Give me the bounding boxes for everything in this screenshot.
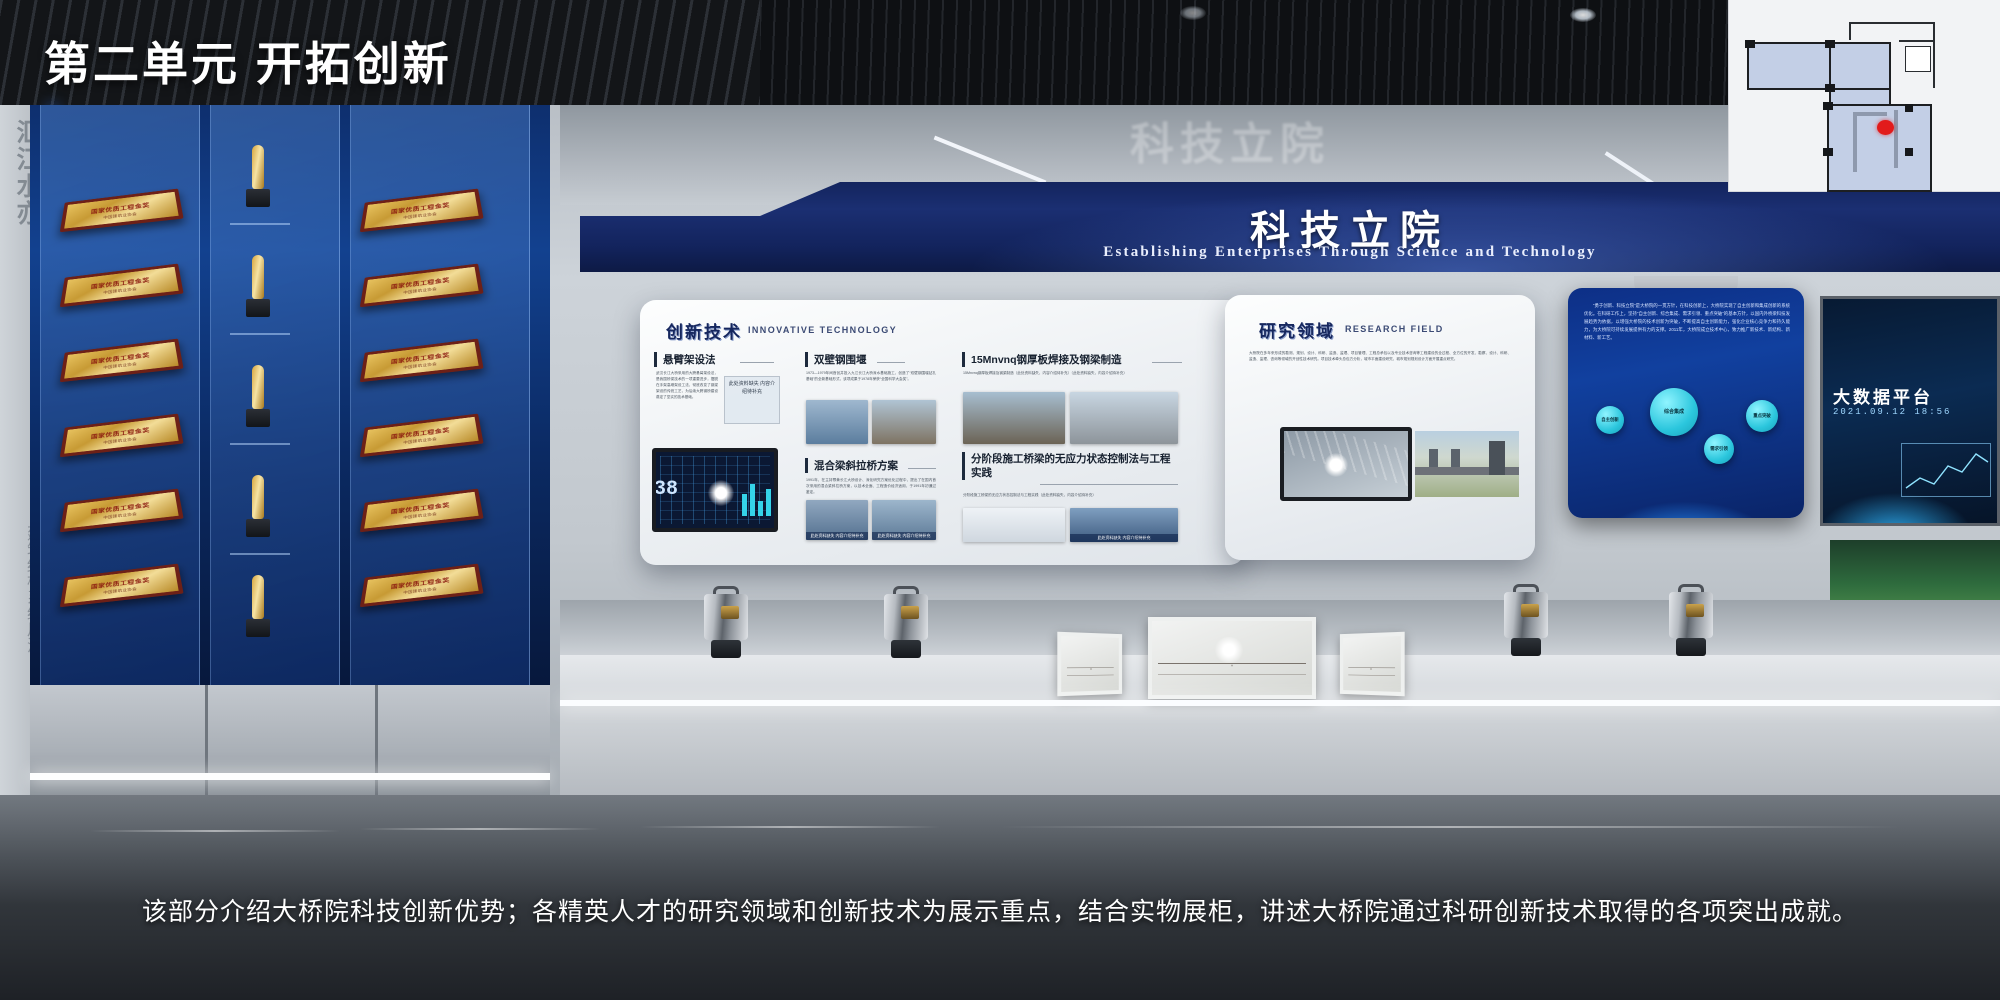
fp-inner-wall	[1853, 112, 1857, 172]
fp-room-west-b	[1829, 42, 1891, 90]
shelf	[230, 443, 290, 445]
fp-room-main	[1827, 104, 1932, 192]
section-title-stressfree: 分阶段施工桥梁的无应力状态控制法与工程实践	[962, 452, 1174, 480]
monitor-glare	[1324, 453, 1348, 477]
current-location-marker	[1877, 120, 1894, 135]
thumbnail-construction-1	[963, 392, 1065, 444]
section-title-steel-plate: 15Mnvnq钢厚板焊接及钢梁制造	[962, 352, 1122, 367]
fp-inner-wall	[1853, 112, 1887, 116]
fp-column	[1825, 40, 1835, 48]
fp-stairs	[1905, 46, 1931, 72]
thumbnail-bridge-1	[806, 400, 868, 444]
floor-highlight	[1000, 826, 1900, 828]
thumbnail-steel-truss	[1070, 392, 1178, 444]
bottom-caption: 该部分介绍大桥院科技创新优势；各精英人才的研究领域和创新技术为展示重点，结合实物…	[0, 880, 2000, 940]
trophy-figure	[245, 365, 271, 431]
fp-outline	[1849, 22, 1935, 24]
bigdata-screen: 大数据平台 2021.09.12 18:56	[1820, 296, 2000, 526]
thumb-caption: 此处资料缺失 内容介绍待补充	[806, 532, 868, 540]
section-body-hybrid-girder: 1991年，在主持鄂黄长江大桥设计、深化研究方案优化过程中，提出了在国内首次采用…	[806, 477, 936, 495]
thumb-caption: 此处资料缺失 内容介绍待补充	[872, 532, 936, 540]
panel-b-heading-cn: 研究领域	[1259, 317, 1335, 342]
bigdata-timestamp: 2021.09.12 18:56	[1833, 407, 1951, 417]
ceiling-light-icon	[1570, 8, 1596, 22]
laser-scanner-device	[700, 594, 752, 660]
node-demand-driven[interactable]: 需求引领	[1704, 434, 1734, 464]
fp-column	[1823, 148, 1833, 156]
floor-highlight	[360, 828, 600, 830]
panel-b-body: 大桥院在多年来形成的勘测、规划、设计、科研、监造、监理、项目管理、工程总承包以及…	[1249, 350, 1511, 362]
fp-inner-wall	[1894, 110, 1898, 168]
shelf	[230, 333, 290, 335]
pedestal-led-strip	[30, 773, 550, 780]
floor-highlight	[90, 830, 340, 832]
thumbnail-hybrid-2: 此处资料缺失 内容介绍待补充	[872, 500, 936, 540]
node-integration[interactable]: 综合集成	[1650, 388, 1698, 436]
exhibition-render: 科技立院 汇江水亦 建筑结构系统川活 国家优质工程金奖 中国建筑业协会 国家优质…	[0, 0, 2000, 1000]
laser-scanner-device	[1500, 592, 1552, 658]
section-body-stressfree: 分阶段施工桥梁的无应力状态控制法与工程实践（此处资料缺失，内容介绍待补充）	[963, 492, 1178, 498]
thumbnail-bridge-2	[872, 400, 936, 444]
award-display-case: 国家优质工程金奖 中国建筑业协会 国家优质工程金奖 中国建筑业协会 国家优质工程…	[30, 105, 550, 795]
section-title-hybrid-girder: 混合梁斜拉桥方案	[805, 458, 898, 473]
section-rule	[908, 468, 936, 469]
section-rule	[1040, 484, 1178, 485]
page-title: 第二单元 开拓创新	[44, 28, 452, 94]
floorplan-minimap[interactable]	[1728, 0, 2000, 192]
panel-innovative-technology: 创新技术 INNOVATIVE TECHNOLOGY 悬臂架设法 武汉长江大桥采…	[640, 300, 1245, 565]
thumbnail-hybrid-1: 此处资料缺失 内容介绍待补充	[806, 500, 868, 540]
node-self-innovation[interactable]: 自主创新	[1596, 406, 1624, 434]
embedded-monitor: 38	[652, 448, 778, 532]
counter-led-strip	[560, 700, 2000, 706]
line-chart-icon	[1902, 444, 1992, 498]
fp-column	[1823, 102, 1833, 110]
node-key-breakthrough[interactable]: 重点突破	[1746, 400, 1778, 432]
bridge-drawing-left	[1057, 632, 1122, 697]
fp-room-west	[1747, 42, 1837, 90]
shelf	[230, 223, 290, 225]
bigdata-chart	[1901, 443, 1991, 497]
fp-outline	[1849, 22, 1851, 40]
fp-column	[1825, 84, 1835, 92]
note-missing-1: 此处资料缺失 内容介绍待补充	[724, 376, 780, 424]
section-body-cantilever: 武汉长江大桥采用的大跨悬臂架设法，是我国桥梁技术的一项重要进步，摆脱在手架高墩架…	[656, 370, 718, 400]
fp-outline	[1933, 22, 1935, 88]
bridge-drawing-right	[1340, 632, 1405, 697]
totem-body-text: “勇于创新、科技立院”是大桥院的一贯方针，在科技创新上，大桥院实现了自主创新和集…	[1584, 302, 1790, 342]
thumb-caption: 此处资料缺失 内容介绍待补充	[1070, 534, 1178, 542]
trophy-figure	[245, 145, 271, 211]
fp-column	[1745, 40, 1755, 48]
bigdata-title: 大数据平台	[1833, 383, 1933, 408]
ghost-wall-text: 科技立院	[1060, 108, 1400, 168]
shelf	[230, 553, 290, 555]
ceiling-light-icon	[1180, 6, 1206, 20]
bridge-drawing-center	[1148, 617, 1316, 699]
section-rule	[877, 362, 905, 363]
panel-b-heading-en: RESEARCH FIELD	[1345, 324, 1444, 334]
floor-highlight	[640, 826, 940, 828]
laser-scanner-device	[880, 594, 932, 660]
fp-outline	[1899, 40, 1935, 42]
fp-column	[1905, 148, 1913, 156]
fp-column	[1905, 104, 1913, 112]
section-rule	[1152, 362, 1182, 363]
totem-innovation-panel: “勇于创新、科技立院”是大桥院的一贯方针，在科技创新上，大桥院实现了自主创新和集…	[1568, 288, 1804, 518]
section-body-steel-plate: 15Mnvnq钢厚板焊接及钢梁制造（此处资料缺失，内容介绍待补充）（此处资料缺失…	[963, 370, 1178, 376]
case-glass-mid	[210, 105, 340, 685]
section-rule	[740, 362, 774, 363]
trophy-figure	[245, 255, 271, 321]
section-title-cantilever: 悬臂架设法	[654, 352, 716, 367]
banner-title-en: Establishing Enterprises Through Science…	[580, 244, 2000, 261]
section-body-double-wall: 1973—1979年间首创并投入九江长江大桥深水基础施工，创造了“双壁钢围堰钻孔…	[806, 370, 936, 382]
thumbnail-chart	[963, 508, 1065, 542]
monitor-value: 38	[654, 478, 678, 501]
thumbnail-bridge-night: 此处资料缺失 内容介绍待补充	[1070, 508, 1178, 542]
panel-a-heading-en: INNOVATIVE TECHNOLOGY	[748, 325, 897, 335]
trophy-figure	[245, 575, 271, 641]
section-title-double-wall: 双壁钢围堰	[805, 352, 867, 367]
research-photo-bridge	[1415, 431, 1519, 497]
panel-research-field: 研究领域 RESEARCH FIELD 大桥院在多年来形成的勘测、规划、设计、科…	[1225, 295, 1535, 560]
laser-scanner-device	[1665, 592, 1717, 658]
panel-a-heading-cn: 创新技术	[666, 318, 742, 343]
trophy-figure	[245, 475, 271, 541]
monitor-glare	[708, 480, 734, 506]
research-monitor	[1280, 427, 1412, 501]
